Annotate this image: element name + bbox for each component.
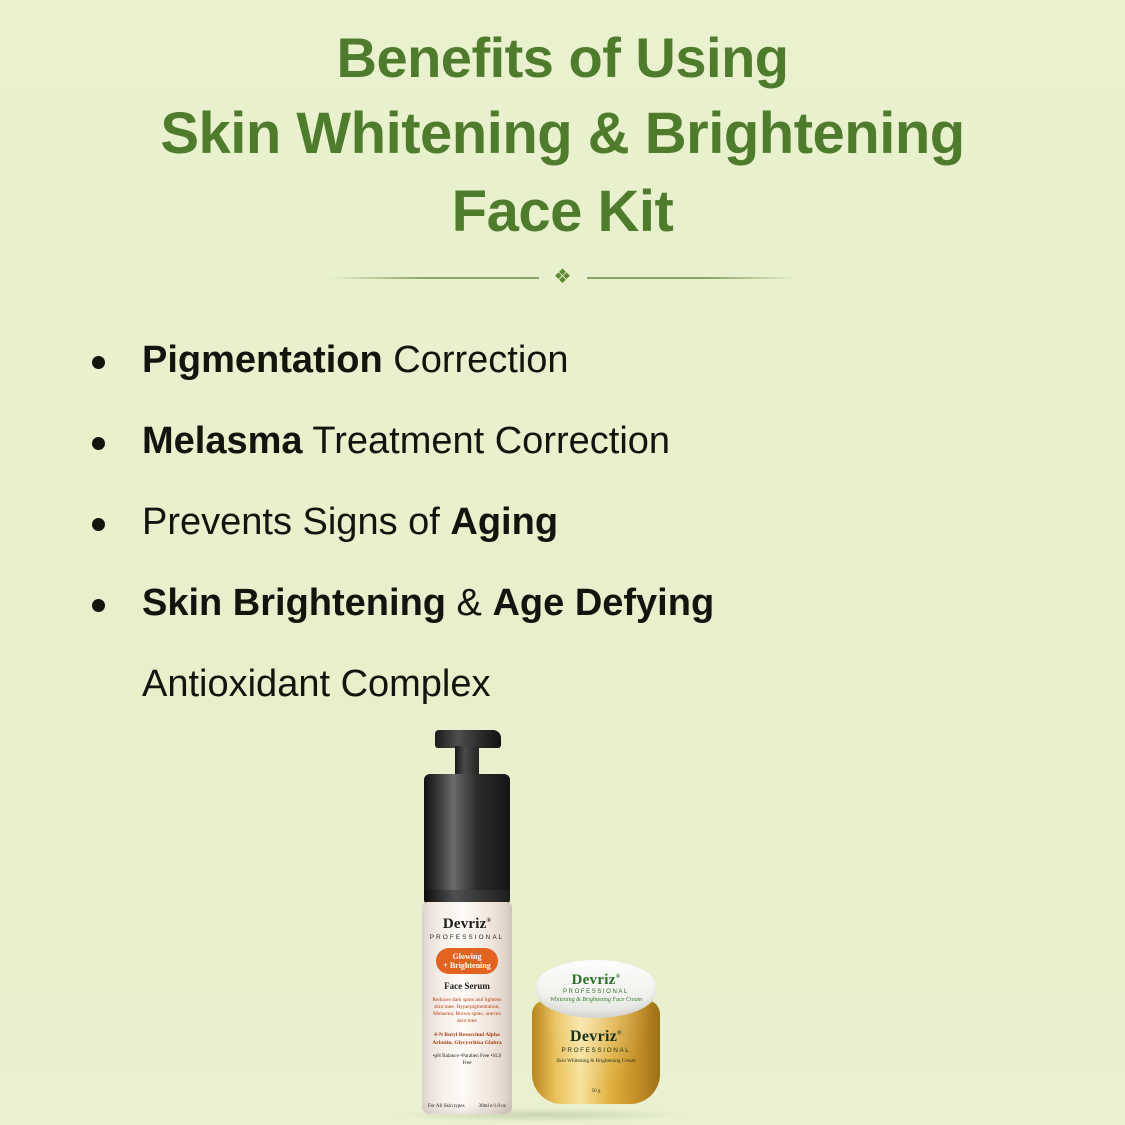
list-item: Prevents Signs of Aging xyxy=(86,482,1125,563)
serum-product-type: Face Serum xyxy=(422,981,512,991)
poster-canvas: Benefits of Using Skin Whitening & Brigh… xyxy=(0,0,1125,1125)
title-line-2: Skin Whitening & Brightening xyxy=(0,94,1125,174)
serum-badge-line-1: Glowing xyxy=(453,952,482,961)
serum-brand-mark: ® xyxy=(487,918,492,924)
serum-label: Devriz® PROFESSIONAL Glowing + Brighteni… xyxy=(422,902,512,1114)
benefits-list: Pigmentation Correction Melasma Treatmen… xyxy=(0,320,1125,724)
title-line-1: Benefits of Using xyxy=(0,22,1125,94)
benefit-2-bold: Melasma xyxy=(142,420,303,462)
benefit-4-bold-tail: Age Defying xyxy=(492,582,714,624)
benefit-1-bold: Pigmentation xyxy=(142,339,383,381)
jar-lid-tagline: Whitening & Brightening Face Cream xyxy=(536,997,656,1003)
title-divider: ❖ xyxy=(328,264,798,290)
serum-ingredients: 4-N Butyl Resorcinol Alpha Arbutin, Glyc… xyxy=(428,1032,506,1047)
benefit-3-bold: Aging xyxy=(450,501,558,543)
benefit-4-bold-lead: Skin Brightening xyxy=(142,582,446,624)
list-item: Melasma Treatment Correction xyxy=(86,401,1125,482)
serum-volume: 30ml e/1.0 oz xyxy=(479,1104,506,1109)
title-line-3: Face Kit xyxy=(0,174,1125,250)
jar-lid-brand-mark: ® xyxy=(616,974,621,980)
serum-bottle: Devriz® PROFESSIONAL Glowing + Brighteni… xyxy=(409,730,525,1115)
serum-badge-line-2: + Brightening xyxy=(443,961,490,970)
jar-size: 50 g xyxy=(532,1089,660,1094)
jar-lid-brand-text: Devriz xyxy=(571,972,615,988)
page-title: Benefits of Using Skin Whitening & Brigh… xyxy=(0,0,1125,250)
jar-brand: Devriz® xyxy=(532,1028,660,1046)
cream-jar: Devriz® PROFESSIONAL Skin Whitening & Br… xyxy=(532,960,660,1112)
serum-brand-sub: PROFESSIONAL xyxy=(422,934,512,941)
jar-brand-text: Devriz xyxy=(570,1028,617,1045)
serum-free-claims: •pH Balance •Paraben Free •SLS Free xyxy=(428,1053,506,1066)
diamond-ornament-icon: ❖ xyxy=(539,264,587,290)
jar-brand-mark: ® xyxy=(617,1031,622,1037)
benefit-2-rest: Treatment Correction xyxy=(303,420,670,462)
jar-lid-brand: Devriz® xyxy=(536,972,656,989)
serum-brand-text: Devriz xyxy=(443,916,487,932)
list-item: Pigmentation Correction xyxy=(86,320,1125,401)
jar-lid: Devriz® PROFESSIONAL Whitening & Brighte… xyxy=(536,960,656,1018)
benefit-3-lead: Prevents Signs of xyxy=(142,501,450,543)
jar-description: Skin Whitening & Brightening Cream xyxy=(532,1058,660,1065)
product-image-group: Devriz® PROFESSIONAL Glowing + Brighteni… xyxy=(0,700,1125,1125)
benefit-4-mid: & xyxy=(446,582,492,624)
serum-cap xyxy=(424,774,510,898)
serum-brand: Devriz® xyxy=(422,916,512,933)
serum-badge: Glowing + Brightening xyxy=(436,948,498,974)
jar-brand-sub: PROFESSIONAL xyxy=(532,1047,660,1054)
serum-skin-type: For All Skin types xyxy=(428,1104,465,1109)
serum-footer: For All Skin types 30ml e/1.0 oz xyxy=(422,1104,512,1109)
benefit-1-rest: Correction xyxy=(383,339,569,381)
serum-description: Reduces dark spots and lightens skin ton… xyxy=(428,997,506,1025)
jar-lid-sub: PROFESSIONAL xyxy=(536,989,656,995)
